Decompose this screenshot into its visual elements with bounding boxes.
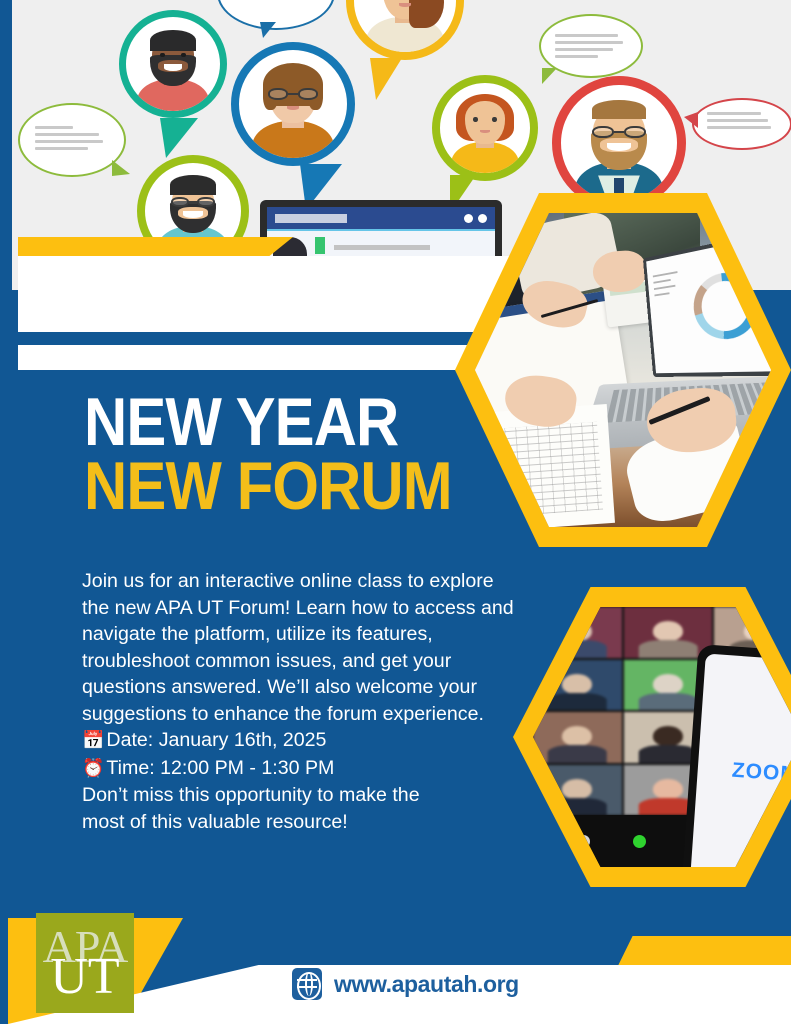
zoom-toolbar-icon-video xyxy=(633,835,646,848)
avatar-eye-left xyxy=(473,117,478,122)
zoom-participant-head xyxy=(562,674,592,694)
zoom-participant-head xyxy=(653,621,683,641)
avatar-hair xyxy=(592,100,645,119)
event-date-row: 📅Date: January 16th, 2025 xyxy=(82,727,522,755)
zoom-participant-head xyxy=(653,674,683,694)
avatar-glasses xyxy=(592,126,645,139)
bubble-tail-top-center xyxy=(260,22,276,38)
globe-icon xyxy=(292,968,322,1000)
avatar xyxy=(440,83,530,173)
glasses-lens-left xyxy=(171,197,189,208)
mockup-green-badge xyxy=(315,237,325,254)
speech-bubble-top-center xyxy=(217,0,335,30)
mockup-text-bar xyxy=(334,245,430,250)
avatar xyxy=(561,85,677,201)
headline-block: NEW YEAR NEW FORUM xyxy=(84,393,514,517)
avatar-bubble-woman-yellow xyxy=(346,0,464,60)
zoom-participant-body xyxy=(548,745,607,762)
alarm-clock-icon: ⏰ xyxy=(82,758,104,779)
closing-line-1: Don’t miss this opportunity to make the xyxy=(82,782,522,809)
avatar-hair xyxy=(409,0,444,28)
apa-ut-logo: APA UT xyxy=(36,913,134,1013)
zoom-tile xyxy=(624,607,713,658)
bubble-tail-left xyxy=(112,160,130,176)
zoom-phone-screen: ZOOM xyxy=(689,653,791,867)
avatar xyxy=(126,17,220,111)
event-date-text: Date: January 16th, 2025 xyxy=(106,729,326,751)
zoom-participant-body xyxy=(639,693,698,710)
flyer-poster: ZOOM NEW YEAR NEW FORUM Join us for an i… xyxy=(0,0,791,1024)
event-time-row: ⏰Time: 12:00 PM - 1:30 PM xyxy=(82,755,522,783)
glasses-bridge xyxy=(614,131,625,134)
glasses-bridge xyxy=(189,201,198,204)
avatar-bubble-bearded-man-teal xyxy=(119,10,227,118)
calendar-icon: 📅 xyxy=(82,730,104,751)
glasses-lens-left xyxy=(592,126,613,139)
zoom-participant-head xyxy=(562,779,592,799)
mockup-search-field xyxy=(275,214,347,223)
body-paragraph: Join us for an interactive online class … xyxy=(82,568,522,727)
headline-line-2: NEW FORUM xyxy=(84,457,462,517)
avatar-face xyxy=(465,101,505,144)
photo-chart-labels-left xyxy=(653,271,686,302)
closing-line-2: most of this valuable resource! xyxy=(82,809,522,836)
glasses-bridge xyxy=(288,93,298,96)
avatar-glasses xyxy=(268,88,318,100)
website-row[interactable]: www.apautah.org xyxy=(292,963,519,1005)
white-band-upper xyxy=(18,256,518,332)
body-copy-block: Join us for an interactive online class … xyxy=(82,568,522,835)
zoom-participant-body xyxy=(548,693,607,710)
speech-bubble-red-right xyxy=(692,98,791,150)
white-band-lower xyxy=(18,345,518,370)
bubble-tail-green-right xyxy=(542,68,557,84)
glasses-lens-right xyxy=(197,197,215,208)
glasses-lens-left xyxy=(268,88,288,100)
headline-line-1: NEW YEAR xyxy=(84,393,462,453)
avatar-bubble-redhead-woman xyxy=(432,75,538,181)
bubble-text-lines xyxy=(35,126,110,154)
avatar-hair xyxy=(150,30,195,51)
hexagon-photo-zoom-call: ZOOM xyxy=(513,587,791,887)
avatar-smile xyxy=(164,64,183,71)
avatar-bubble-tail-teal xyxy=(160,118,198,158)
glasses-lens-right xyxy=(624,126,645,139)
website-url[interactable]: www.apautah.org xyxy=(334,971,519,998)
event-time-text: Time: 12:00 PM - 1:30 PM xyxy=(106,757,334,779)
globe-latitude-lines xyxy=(297,972,317,996)
bubble-text-lines xyxy=(555,34,627,62)
zoom-participant-head xyxy=(653,726,683,746)
avatar-hair xyxy=(170,175,216,194)
avatar-eye-left xyxy=(160,53,165,58)
speech-bubble-left xyxy=(18,103,126,177)
zoom-participant-head xyxy=(653,779,683,799)
avatar-bubble-man-tie-red xyxy=(552,76,686,210)
avatar-glasses xyxy=(171,197,215,208)
logo-line-ut: UT xyxy=(50,957,119,998)
zoom-participant-body xyxy=(639,745,698,762)
avatar-smile xyxy=(183,211,202,218)
glasses-lens-right xyxy=(298,88,318,100)
bubble-tail-red-right xyxy=(684,112,698,128)
zoom-tile xyxy=(533,712,622,763)
bubble-text-lines xyxy=(707,112,776,133)
avatar-bubble-tail-yellow xyxy=(370,58,402,100)
avatar xyxy=(239,50,347,158)
zoom-participant-head xyxy=(562,726,592,746)
avatar-smile xyxy=(607,143,630,151)
zoom-participant-body xyxy=(639,640,698,657)
avatar-eye-right xyxy=(492,117,497,122)
avatar xyxy=(354,0,456,52)
avatar-bubble-woman-glasses-blue xyxy=(231,42,355,166)
